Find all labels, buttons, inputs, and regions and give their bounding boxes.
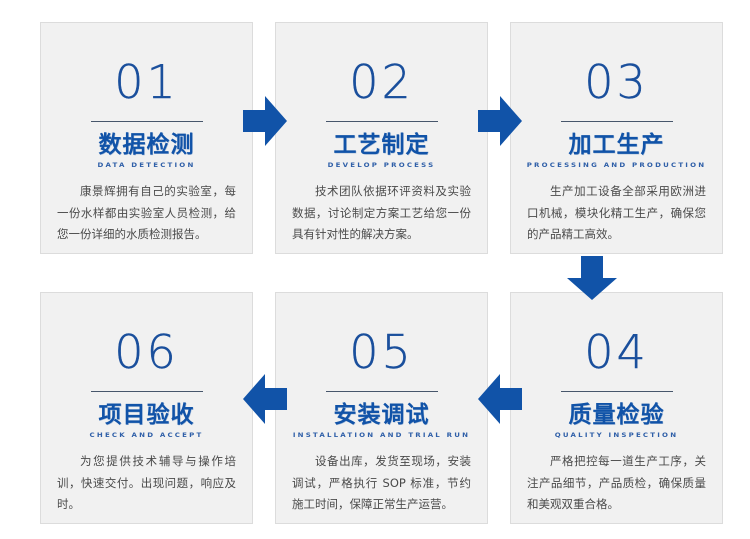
divider	[91, 121, 203, 122]
step-description: 为您提供技术辅导与操作培训，快速交付。出现问题，响应及时。	[57, 451, 236, 515]
step-description: 康景辉拥有自己的实验室，每一份水样都由实验室人员检测，给您一份详细的水质检测报告…	[57, 181, 236, 245]
step-title: 安装调试	[276, 403, 487, 428]
process-step-card-05: 05 安装调试 INSTALLATION AND TRIAL RUN 设备出库，…	[275, 292, 488, 524]
divider	[91, 391, 203, 392]
process-step-card-06: 06 项目验收 CHECK AND ACCEPT 为您提供技术辅导与操作培训，快…	[40, 292, 253, 524]
process-step-card-02: 02 工艺制定 DEVELOP PROCESS 技术团队依据环评资料及实验数据，…	[275, 22, 488, 254]
step-title: 加工生产	[511, 133, 722, 158]
step-number: 02	[276, 59, 487, 105]
step-number: 03	[511, 59, 722, 105]
arrow-left-icon	[243, 374, 287, 424]
step-title: 质量检验	[511, 403, 722, 428]
step-subtitle: PROCESSING AND PRODUCTION	[511, 162, 722, 169]
step-title: 数据检测	[41, 133, 252, 158]
divider	[326, 121, 438, 122]
process-step-card-03: 03 加工生产 PROCESSING AND PRODUCTION 生产加工设备…	[510, 22, 723, 254]
step-subtitle: INSTALLATION AND TRIAL RUN	[276, 432, 487, 439]
arrow-down-icon	[567, 256, 617, 300]
step-description: 技术团队依据环评资料及实验数据，讨论制定方案工艺给您一份具有针对性的解决方案。	[292, 181, 471, 245]
process-step-card-04: 04 质量检验 QUALITY INSPECTION 严格把控每一道生产工序，关…	[510, 292, 723, 524]
step-number: 06	[41, 329, 252, 375]
step-description: 设备出库，发货至现场，安装调试，严格执行 SOP 标准，节约施工时间，保障正常生…	[292, 451, 471, 515]
step-number: 04	[511, 329, 722, 375]
step-subtitle: DEVELOP PROCESS	[276, 162, 487, 169]
process-flow-diagram: 01 数据检测 DATA DETECTION 康景辉拥有自己的实验室，每一份水样…	[0, 0, 750, 539]
step-title: 项目验收	[41, 403, 252, 428]
step-description: 严格把控每一道生产工序，关注产品细节，产品质检，确保质量和美观双重合格。	[527, 451, 706, 515]
step-number: 01	[41, 59, 252, 105]
arrow-left-icon	[478, 374, 522, 424]
step-title: 工艺制定	[276, 133, 487, 158]
divider	[561, 391, 673, 392]
process-step-card-01: 01 数据检测 DATA DETECTION 康景辉拥有自己的实验室，每一份水样…	[40, 22, 253, 254]
step-description: 生产加工设备全部采用欧洲进口机械，模块化精工生产，确保您的产品精工高效。	[527, 181, 706, 245]
step-subtitle: DATA DETECTION	[41, 162, 252, 169]
step-subtitle: QUALITY INSPECTION	[511, 432, 722, 439]
arrow-right-icon	[243, 96, 287, 146]
divider	[561, 121, 673, 122]
step-subtitle: CHECK AND ACCEPT	[41, 432, 252, 439]
step-number: 05	[276, 329, 487, 375]
divider	[326, 391, 438, 392]
arrow-right-icon	[478, 96, 522, 146]
